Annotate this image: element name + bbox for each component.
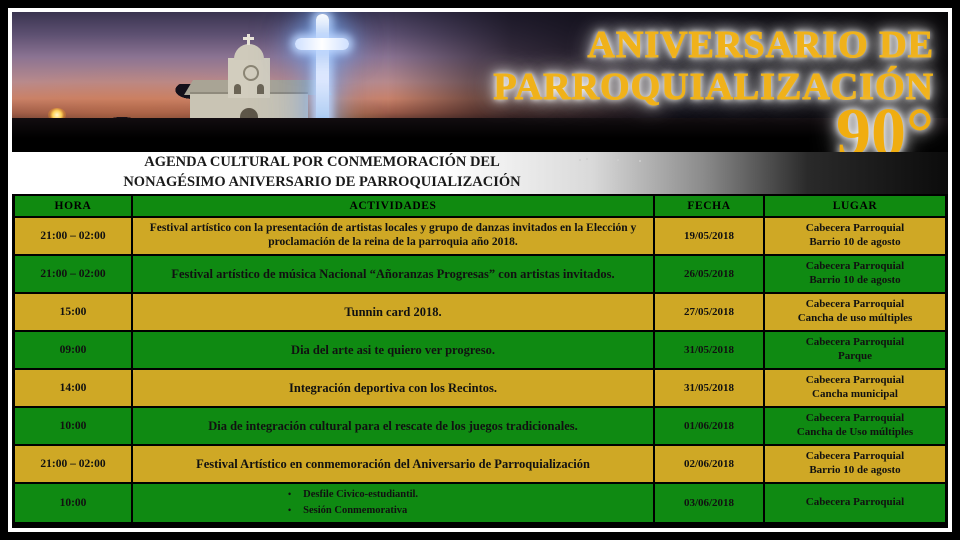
title-line-1: ANIVERSARIO DE	[374, 26, 934, 64]
column-header-lugar: LUGAR	[765, 196, 945, 216]
lugar-line-2: Cancha de Uso múltiples	[769, 426, 941, 440]
lugar-line-2: Cancha de uso múltiples	[769, 312, 941, 326]
lugar-line-2: Cancha municipal	[769, 388, 941, 402]
subtitle-line-1: AGENDA CULTURAL POR CONMEMORACIÓN DEL	[12, 153, 632, 173]
hero-image: ANIVERSARIO DE PARROQUIALIZACIÓN 90°	[12, 12, 948, 152]
table-row: 14:00Integración deportiva con los Recin…	[15, 370, 945, 406]
lugar-line-1: Cabecera Parroquial	[769, 222, 941, 236]
cell-actividad: Festival artístico con la presentación d…	[133, 218, 653, 254]
column-header-actividades: ACTIVIDADES	[133, 196, 653, 216]
cell-actividad: Festival Artístico en conmemoración del …	[133, 446, 653, 482]
table-row: 21:00 – 02:00Festival Artístico en conme…	[15, 446, 945, 482]
cell-fecha: 31/05/2018	[655, 332, 763, 368]
decorative-specks	[577, 157, 697, 167]
poster: ANIVERSARIO DE PARROQUIALIZACIÓN 90° AGE…	[0, 0, 960, 540]
table-row: 10:00Dia de integración cultural para el…	[15, 408, 945, 444]
agenda-table: HORA ACTIVIDADES FECHA LUGAR 21:00 – 02:…	[13, 194, 947, 524]
church-oculus	[243, 65, 259, 81]
table-row: 21:00 – 02:00Festival artístico de músic…	[15, 256, 945, 292]
cell-hora: 15:00	[15, 294, 131, 330]
cell-hora: 21:00 – 02:00	[15, 446, 131, 482]
column-header-hora: HORA	[15, 196, 131, 216]
table-row: 15:00Tunnin card 2018.27/05/2018Cabecera…	[15, 294, 945, 330]
church-window	[234, 84, 241, 94]
cell-actividad: Festival artístico de música Nacional “A…	[133, 256, 653, 292]
cell-hora: 10:00	[15, 484, 131, 522]
lugar-line-1: Cabecera Parroquial	[769, 374, 941, 388]
table-row: 21:00 – 02:00Festival artístico con la p…	[15, 218, 945, 254]
anniversary-badge: 90°	[374, 102, 934, 152]
subtitle-band: AGENDA CULTURAL POR CONMEMORACIÓN DEL NO…	[12, 152, 948, 194]
column-header-fecha: FECHA	[655, 196, 763, 216]
church-building	[190, 54, 308, 128]
cell-lugar: Cabecera ParroquialCancha municipal	[765, 370, 945, 406]
activity-bullet-item: Desfile Civico-estudiantil.	[288, 489, 498, 502]
activity-bullet-item: Sesión Conmemorativa	[288, 505, 498, 518]
lugar-line-1: Cabecera Parroquial	[769, 450, 941, 464]
agenda-table-wrapper: HORA ACTIVIDADES FECHA LUGAR 21:00 – 02:…	[12, 194, 948, 524]
cell-fecha: 03/06/2018	[655, 484, 763, 522]
subtitle-line-2: NONAGÉSIMO ANIVERSARIO DE PARROQUIALIZAC…	[12, 173, 632, 193]
table-row: 09:00Dia del arte asi te quiero ver prog…	[15, 332, 945, 368]
lugar-line-1: Cabecera Parroquial	[769, 336, 941, 350]
lugar-line-1: Cabecera Parroquial	[769, 496, 941, 510]
cell-actividad: Desfile Civico-estudiantil.Sesión Conmem…	[133, 484, 653, 522]
subtitle-text: AGENDA CULTURAL POR CONMEMORACIÓN DEL NO…	[12, 153, 632, 192]
cell-fecha: 27/05/2018	[655, 294, 763, 330]
cell-fecha: 02/06/2018	[655, 446, 763, 482]
cell-lugar: Cabecera ParroquialBarrio 10 de agosto	[765, 446, 945, 482]
lugar-line-2: Barrio 10 de agosto	[769, 274, 941, 288]
activity-bullet-list: Desfile Civico-estudiantil.Sesión Conmem…	[137, 489, 649, 517]
lugar-line-1: Cabecera Parroquial	[769, 298, 941, 312]
cell-fecha: 31/05/2018	[655, 370, 763, 406]
church-dome	[234, 44, 264, 60]
cell-lugar: Cabecera ParroquialBarrio 10 de agosto	[765, 256, 945, 292]
cell-lugar: Cabecera Parroquial	[765, 484, 945, 522]
cross-horizontal-beam	[295, 38, 349, 50]
poster-frame: ANIVERSARIO DE PARROQUIALIZACIÓN 90° AGE…	[8, 8, 952, 532]
cell-hora: 21:00 – 02:00	[15, 218, 131, 254]
cell-lugar: Cabecera ParroquialCancha de Uso múltipl…	[765, 408, 945, 444]
cell-actividad: Dia de integración cultural para el resc…	[133, 408, 653, 444]
cell-hora: 14:00	[15, 370, 131, 406]
cell-actividad: Tunnin card 2018.	[133, 294, 653, 330]
cell-fecha: 19/05/2018	[655, 218, 763, 254]
cell-hora: 21:00 – 02:00	[15, 256, 131, 292]
lugar-line-2: Barrio 10 de agosto	[769, 236, 941, 250]
cell-lugar: Cabecera ParroquialCancha de uso múltipl…	[765, 294, 945, 330]
cell-actividad: Dia del arte asi te quiero ver progreso.	[133, 332, 653, 368]
cell-hora: 10:00	[15, 408, 131, 444]
cell-actividad: Integración deportiva con los Recintos.	[133, 370, 653, 406]
cell-fecha: 26/05/2018	[655, 256, 763, 292]
lugar-line-1: Cabecera Parroquial	[769, 412, 941, 426]
church-window	[257, 84, 264, 94]
cell-lugar: Cabecera ParroquialBarrio 10 de agosto	[765, 218, 945, 254]
table-row: 10:00Desfile Civico-estudiantil.Sesión C…	[15, 484, 945, 522]
cell-lugar: Cabecera ParroquialParque	[765, 332, 945, 368]
table-header-row: HORA ACTIVIDADES FECHA LUGAR	[15, 196, 945, 216]
lugar-line-2: Parque	[769, 350, 941, 364]
cell-hora: 09:00	[15, 332, 131, 368]
agenda-table-body: 21:00 – 02:00Festival artístico con la p…	[15, 218, 945, 522]
illuminated-cross-monument	[295, 14, 349, 132]
poster-title: ANIVERSARIO DE PARROQUIALIZACIÓN 90°	[374, 26, 934, 152]
lugar-line-1: Cabecera Parroquial	[769, 260, 941, 274]
lugar-line-2: Barrio 10 de agosto	[769, 464, 941, 478]
cell-fecha: 01/06/2018	[655, 408, 763, 444]
church-cross-icon	[247, 34, 250, 45]
